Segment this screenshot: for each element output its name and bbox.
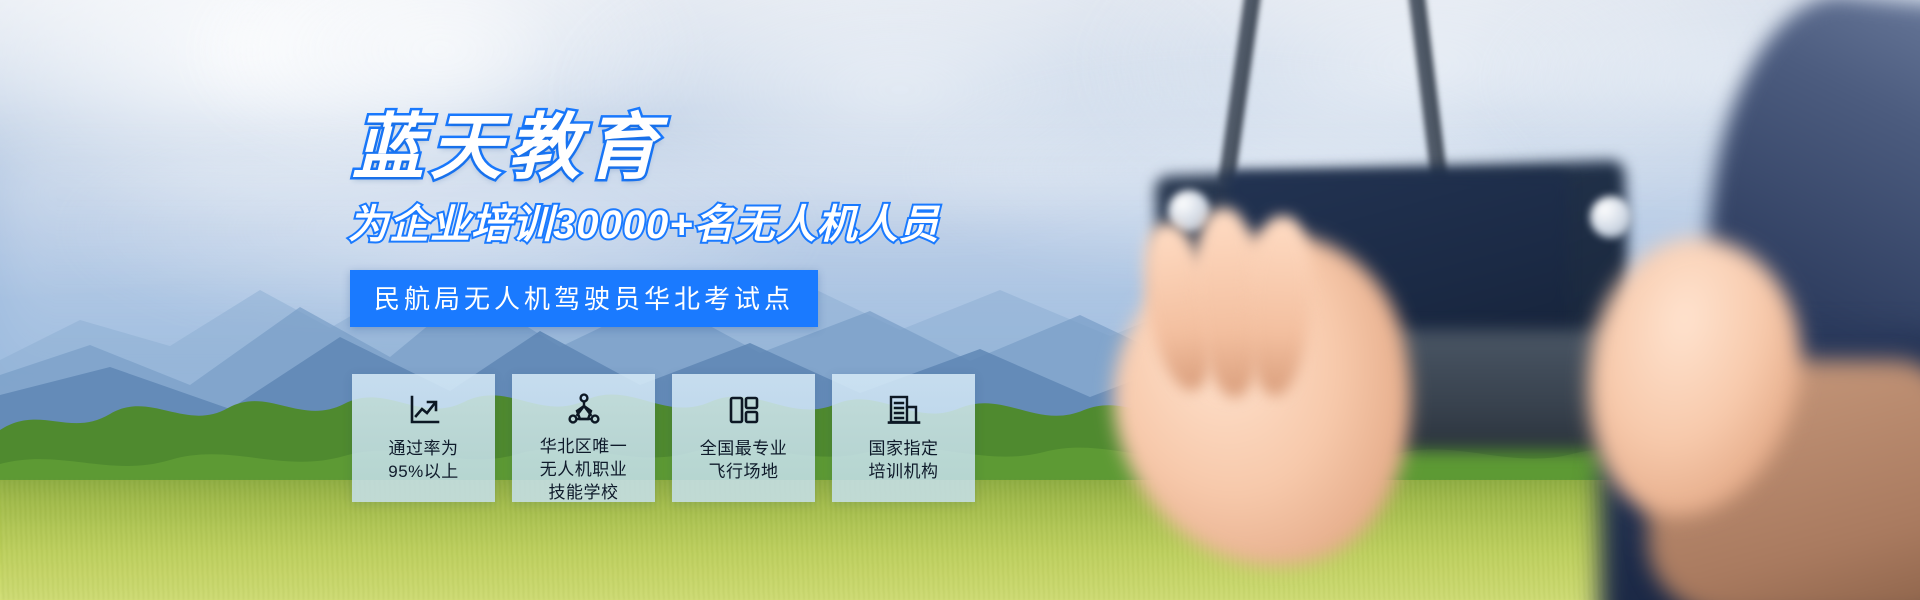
banner-content: 蓝天教育 为企业培训30000+名无人机人员 民航局无人机驾驶员华北考试点 通过… [0, 0, 1920, 600]
chart-trending-up-icon [406, 392, 442, 428]
card-line-1: 全国最专业 [700, 438, 788, 461]
feature-card-unique-school[interactable]: 华北区唯一 无人机职业 技能学校 [512, 374, 655, 502]
card-line-1: 华北区唯一 [540, 436, 628, 459]
building-icon [886, 392, 922, 428]
network-nodes-icon [566, 392, 602, 426]
card-line-2: 无人机职业 [540, 459, 628, 482]
feature-card-national-institution[interactable]: 国家指定 培训机构 [832, 374, 975, 502]
card-line-2: 培训机构 [869, 461, 939, 484]
feature-card-text: 通过率为 95%以上 [388, 438, 459, 484]
card-line-1: 国家指定 [869, 438, 939, 461]
certification-badge: 民航局无人机驾驶员华北考试点 [350, 270, 818, 327]
feature-card-flight-field[interactable]: 全国最专业 飞行场地 [672, 374, 815, 502]
feature-card-text: 国家指定 培训机构 [869, 438, 939, 484]
layout-grid-icon [726, 392, 762, 428]
feature-card-pass-rate[interactable]: 通过率为 95%以上 [352, 374, 495, 502]
feature-card-text: 华北区唯一 无人机职业 技能学校 [540, 436, 628, 504]
card-line-3: 技能学校 [540, 482, 628, 505]
card-line-2: 95%以上 [388, 461, 459, 484]
feature-card-text: 全国最专业 飞行场地 [700, 438, 788, 484]
card-line-1: 通过率为 [388, 438, 459, 461]
banner-title: 蓝天教育 [352, 88, 664, 193]
hero-banner: 蓝天教育 为企业培训30000+名无人机人员 民航局无人机驾驶员华北考试点 通过… [0, 0, 1920, 600]
card-line-2: 飞行场地 [700, 461, 788, 484]
banner-subtitle: 为企业培训30000+名无人机人员 [348, 192, 940, 250]
feature-cards: 通过率为 95%以上 [352, 374, 975, 502]
